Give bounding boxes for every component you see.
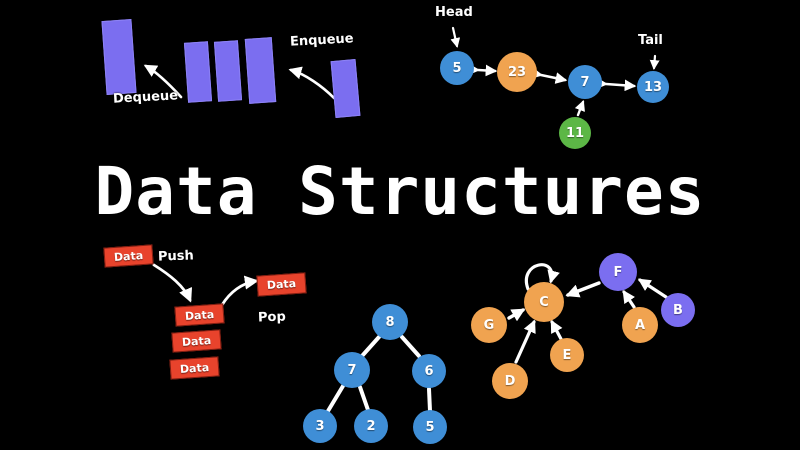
- node-label: 2: [366, 419, 375, 434]
- tree-node-6: 6: [412, 354, 446, 388]
- graph-edge-B-F: [640, 280, 666, 297]
- stack-block-middle: Data: [171, 329, 221, 352]
- graph-node-D: D: [492, 363, 528, 399]
- tree-edge-7-3: [328, 386, 343, 411]
- node-label: G: [484, 318, 495, 333]
- linked-list-node-7: 7: [568, 65, 602, 99]
- graph-edge-A-F: [624, 292, 634, 307]
- graph-node-E: E: [550, 338, 584, 372]
- tree-edge-8-7: [362, 337, 379, 356]
- graph-edge-G-C: [509, 310, 523, 318]
- graph-node-C: C: [524, 282, 564, 322]
- ll-link-23-7: [541, 75, 565, 80]
- node-label: E: [563, 348, 572, 363]
- linked-list-node-13: 13: [637, 71, 669, 103]
- node-label: B: [673, 303, 683, 318]
- enqueue-arrow: [291, 70, 334, 98]
- head-label: Head: [435, 5, 473, 20]
- graph-node-B: B: [661, 293, 695, 327]
- graph-edge-D-C: [516, 322, 534, 362]
- node-label: 7: [347, 363, 356, 378]
- graph-node-F: F: [599, 253, 637, 291]
- tree-edge-7-2: [360, 387, 368, 410]
- node-label: D: [505, 374, 516, 389]
- queue-slot-2: [214, 40, 242, 102]
- queue-slot-1: [184, 41, 212, 103]
- node-label: C: [539, 295, 549, 310]
- tree-edge-8-6: [402, 337, 419, 356]
- ll-link-5-23: [478, 70, 495, 71]
- tree-edge-6-5: [429, 389, 430, 411]
- stack-block-bottom: Data: [169, 356, 219, 379]
- node-label: 11: [566, 126, 584, 141]
- graph-edge-F-C: [568, 283, 599, 295]
- linked-list-node-5: 5: [440, 51, 474, 85]
- push-label: Push: [158, 248, 194, 264]
- stack-block-label: Data: [179, 360, 209, 375]
- stack-block-label: Data: [113, 248, 143, 263]
- ll-link-7-13: [606, 84, 634, 86]
- linked-list-node-11: 11: [559, 117, 591, 149]
- node-label: 5: [452, 61, 461, 76]
- enqueued-item: [331, 59, 361, 118]
- graph-node-A: A: [622, 307, 658, 343]
- tail-label: Tail: [638, 33, 663, 48]
- node-label: 5: [425, 420, 434, 435]
- push-arrow: [154, 265, 190, 300]
- node-label: 7: [580, 75, 589, 90]
- graph-node-G: G: [471, 307, 507, 343]
- head-pointer-arrow: [453, 28, 457, 46]
- linked-list-node-23: 23: [497, 52, 537, 92]
- stack-block-top: Data: [174, 303, 224, 326]
- tree-node-7: 7: [334, 352, 370, 388]
- pop-label: Pop: [258, 310, 286, 326]
- stack-incoming-block: Data: [103, 244, 153, 267]
- dequeued-item: [101, 19, 136, 95]
- stack-popped-block: Data: [256, 272, 306, 296]
- tree-node-5: 5: [413, 410, 447, 444]
- queue-slot-3: [245, 37, 276, 104]
- stack-block-label: Data: [184, 307, 214, 322]
- page-title: Data Structures: [0, 157, 800, 227]
- data-structures-poster: Dequeue Enqueue Head Tail 5 23 7 13 11 D…: [0, 0, 800, 450]
- pop-arrow: [222, 281, 256, 305]
- stack-block-label: Data: [266, 277, 296, 292]
- node-label: 6: [424, 364, 433, 379]
- tree-node-2: 2: [354, 409, 388, 443]
- node-label: A: [635, 318, 645, 333]
- node-label: 13: [644, 80, 662, 95]
- ll-link-11-7: [578, 102, 583, 115]
- node-label: 23: [508, 65, 526, 80]
- node-label: 8: [385, 315, 394, 330]
- tree-node-8: 8: [372, 304, 408, 340]
- tail-pointer-arrow: [654, 56, 655, 68]
- node-label: 3: [315, 419, 324, 434]
- node-label: F: [614, 265, 623, 280]
- stack-block-label: Data: [181, 333, 211, 348]
- graph-edge-E-C: [552, 322, 561, 339]
- tree-node-3: 3: [303, 409, 337, 443]
